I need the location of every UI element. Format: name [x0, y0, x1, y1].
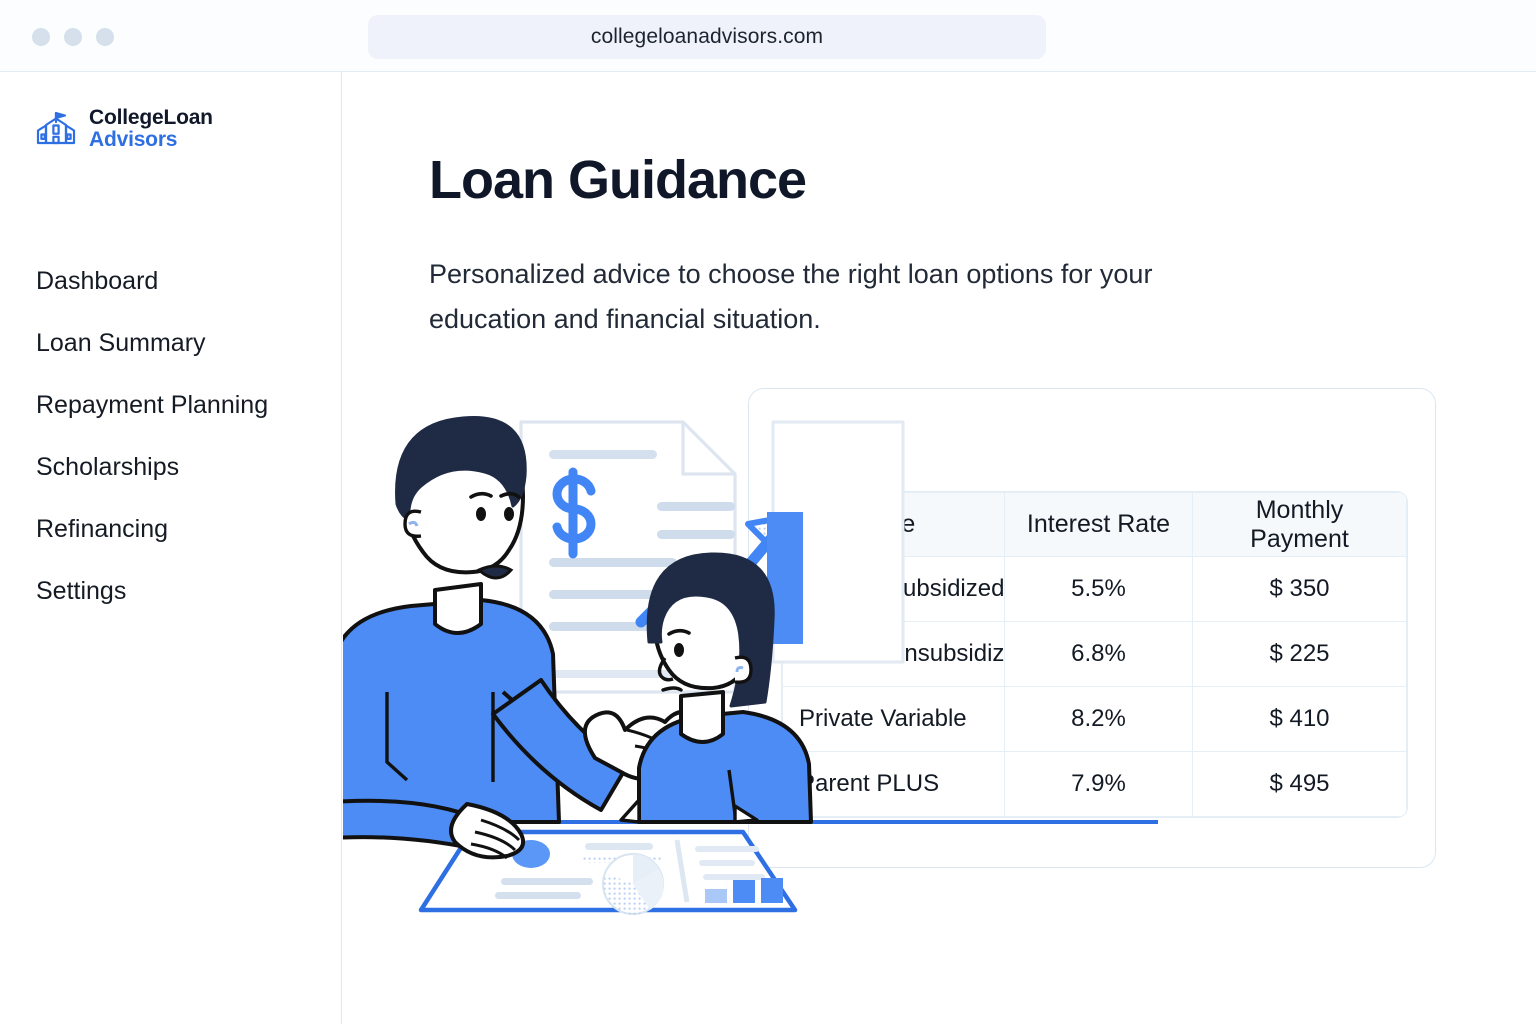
- brand-logo-text: CollegeLoan Advisors: [89, 107, 213, 151]
- loan-rates-table: Loan Type Interest Rate Monthly Payment …: [782, 492, 1407, 817]
- table-row[interactable]: Parent PLUS 7.9% $ 495: [783, 752, 1407, 817]
- table-row[interactable]: Private Variable 8.2% $ 410: [783, 687, 1407, 752]
- brand-name-secondary: Advisors: [89, 129, 213, 151]
- cell-loan-type: Federal Unsubsidiz: [783, 622, 1005, 687]
- address-bar-url: collegeloanadvisors.com: [591, 25, 823, 49]
- cell-monthly-payment: $ 495: [1193, 752, 1407, 817]
- desk-report-paper: [421, 832, 795, 915]
- window-traffic-lights[interactable]: [32, 28, 114, 46]
- browser-title-bar: collegeloanadvisors.com: [0, 0, 1536, 72]
- screenshot-root: collegeloanadvisors.com: [0, 0, 1536, 1024]
- cell-monthly-payment: $ 350: [1193, 557, 1407, 622]
- maximize-dot[interactable]: [96, 28, 114, 46]
- sidebar-item-scholarships[interactable]: Scholarships: [0, 436, 342, 498]
- table-header: Loan Type Interest Rate Monthly Payment: [783, 493, 1407, 557]
- cell-interest-rate: 7.9%: [1005, 752, 1193, 817]
- advisor-figure: [343, 417, 717, 858]
- cell-loan-type: Parent PLUS: [783, 752, 1005, 817]
- table-body: Federal Subsidized 5.5% $ 350 Federal Un…: [783, 557, 1407, 817]
- minimize-dot[interactable]: [64, 28, 82, 46]
- column-header-loan-type: Loan Type: [783, 493, 1005, 557]
- cell-loan-type: Private Variable: [783, 687, 1005, 752]
- dollar-sign-icon: [557, 472, 591, 554]
- cell-interest-rate: 5.5%: [1005, 557, 1193, 622]
- sidebar-item-refinancing[interactable]: Refinancing: [0, 498, 342, 560]
- school-building-icon: [33, 106, 79, 152]
- sidebar: CollegeLoan Advisors Dashboard Loan Summ…: [0, 72, 342, 1024]
- sidebar-item-label: Repayment Planning: [36, 391, 268, 420]
- table-row[interactable]: Federal Subsidized 5.5% $ 350: [783, 557, 1407, 622]
- cell-loan-type: Federal Subsidized: [783, 557, 1005, 622]
- column-header-interest-rate: Interest Rate: [1005, 493, 1193, 557]
- sidebar-item-loan-summary[interactable]: Loan Summary: [0, 312, 342, 374]
- cell-interest-rate: 6.8%: [1005, 622, 1193, 687]
- sidebar-item-label: Settings: [36, 577, 126, 606]
- page-title: Loan Guidance: [429, 149, 806, 211]
- sidebar-item-settings[interactable]: Settings: [0, 560, 342, 622]
- sidebar-item-label: Scholarships: [36, 453, 179, 482]
- sidebar-nav: Dashboard Loan Summary Repayment Plannin…: [0, 250, 342, 622]
- close-dot[interactable]: [32, 28, 50, 46]
- page-subtitle: Personalized advice to choose the right …: [429, 252, 1229, 342]
- column-header-monthly-payment: Monthly Payment: [1193, 493, 1407, 557]
- sidebar-item-label: Dashboard: [36, 267, 158, 296]
- browser-window: collegeloanadvisors.com: [0, 0, 1536, 1024]
- sidebar-item-label: Refinancing: [36, 515, 168, 544]
- address-bar[interactable]: collegeloanadvisors.com: [368, 15, 1046, 59]
- cell-monthly-payment: $ 410: [1193, 687, 1407, 752]
- sidebar-item-dashboard[interactable]: Dashboard: [0, 250, 342, 312]
- document-icon: [521, 422, 735, 692]
- table-header-row: Loan Type Interest Rate Monthly Payment: [783, 493, 1407, 557]
- sidebar-item-repayment-planning[interactable]: Repayment Planning: [0, 374, 342, 436]
- brand-name-primary: CollegeLoan: [89, 107, 213, 129]
- cell-monthly-payment: $ 225: [1193, 622, 1407, 687]
- table-row[interactable]: Federal Unsubsidiz 6.8% $ 225: [783, 622, 1407, 687]
- brand-logo[interactable]: CollegeLoan Advisors: [33, 106, 213, 152]
- main-content: Loan Guidance Personalized advice to cho…: [343, 72, 1536, 1024]
- pie-chart-icon: [603, 854, 664, 915]
- sidebar-item-label: Loan Summary: [36, 329, 206, 358]
- cell-interest-rate: 8.2%: [1005, 687, 1193, 752]
